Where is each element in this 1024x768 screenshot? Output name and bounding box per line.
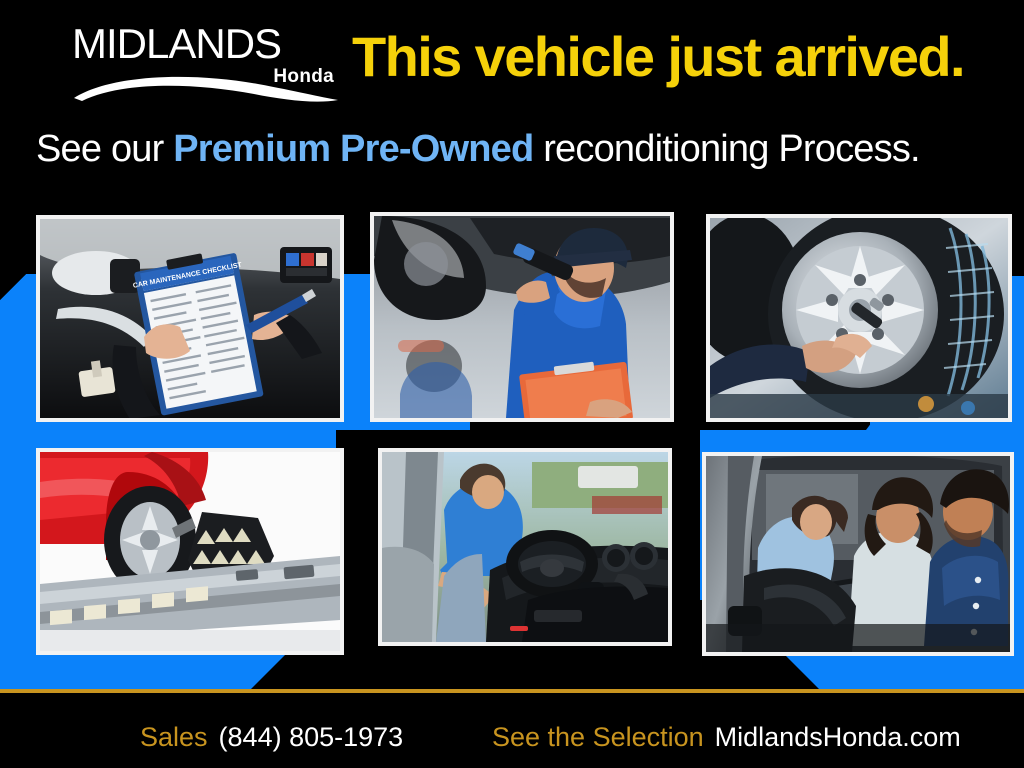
photo-wheel-alignment-image <box>40 452 340 651</box>
subheadline-post: reconditioning Process. <box>533 128 919 170</box>
gallery-photo-wheel-tire-service[interactable] <box>706 214 1012 422</box>
logo-wordmark: MIDLANDS <box>72 22 340 66</box>
gallery-photo-undercarriage-inspection[interactable] <box>370 212 674 422</box>
gallery-photo-inspection-checklist[interactable]: CAR MAINTENANCE CHECKLIST <box>36 215 344 422</box>
gold-divider <box>0 689 1024 693</box>
website-url[interactable]: MidlandsHonda.com <box>715 722 961 752</box>
swoosh-icon <box>72 70 340 102</box>
gallery-photo-wheel-alignment[interactable] <box>36 448 344 655</box>
header: MIDLANDS Honda This vehicle just arrived… <box>0 0 1024 190</box>
selection-link[interactable]: See the SelectionMidlandsHonda.com <box>492 722 961 753</box>
sales-contact[interactable]: Sales(844) 805-1973 <box>140 722 403 753</box>
photo-interior-detailing-image <box>382 452 668 642</box>
gallery-photo-customer-delivery[interactable] <box>702 452 1014 656</box>
sales-label: Sales <box>140 722 208 752</box>
subheadline-pre: See our <box>36 128 173 170</box>
subheadline: See our Premium Pre-Owned reconditioning… <box>36 126 920 172</box>
photo-undercarriage-inspection-image <box>374 216 670 418</box>
selection-label: See the Selection <box>492 722 704 752</box>
photo-wheel-tire-service-image <box>710 218 1008 418</box>
dealer-logo[interactable]: MIDLANDS Honda <box>72 22 340 98</box>
photo-inspection-checklist-image: CAR MAINTENANCE CHECKLIST <box>40 219 340 419</box>
gallery-photo-interior-detailing[interactable] <box>378 448 672 646</box>
sales-phone[interactable]: (844) 805-1973 <box>219 722 404 752</box>
page-title: This vehicle just arrived. <box>352 24 964 90</box>
photo-customer-delivery-image <box>706 456 1010 652</box>
ad-canvas: MIDLANDS Honda This vehicle just arrived… <box>0 0 1024 768</box>
subheadline-highlight: Premium Pre-Owned <box>173 128 533 170</box>
